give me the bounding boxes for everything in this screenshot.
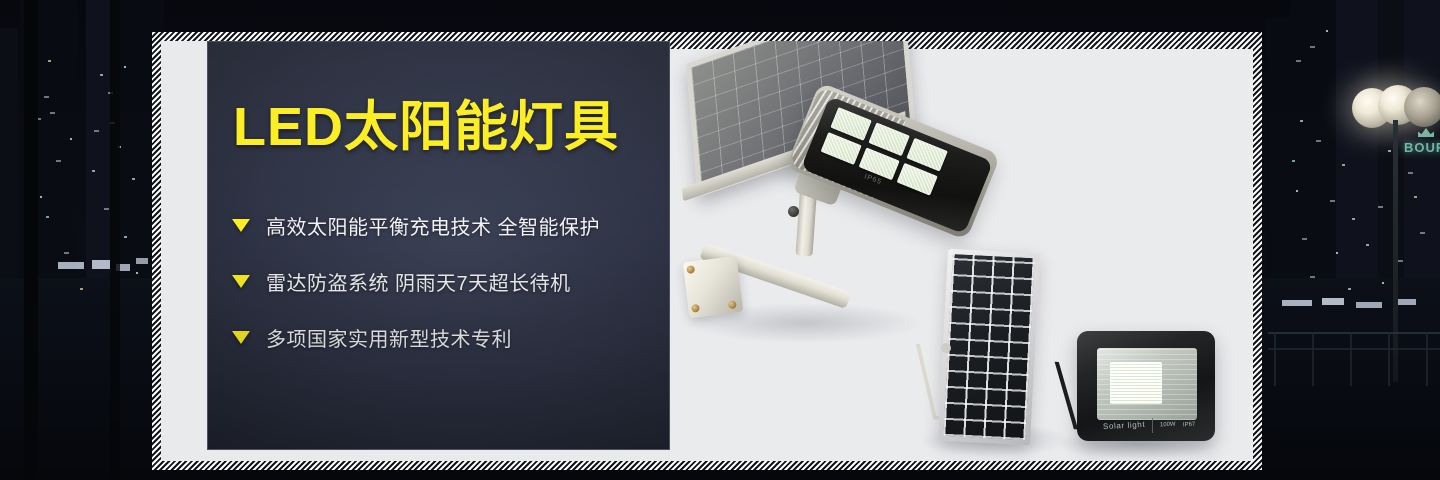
list-item: 雷达防盗系统 阴雨天7天超长待机 — [232, 253, 662, 309]
label-divider — [1152, 418, 1153, 433]
lamp-globe — [1404, 87, 1440, 127]
solar-panel-hinge — [941, 343, 951, 353]
page-title: LED太阳能灯具 — [233, 100, 619, 154]
flood-light-reflector — [1097, 348, 1197, 420]
flood-light-label-row: Solar light 100W IP67 — [1103, 418, 1209, 433]
feature-text: 多项国家实用新型技术专利 — [266, 323, 512, 352]
wall-mount-bracket — [683, 256, 743, 318]
led-module-grid — [821, 107, 948, 196]
solar-flood-light-image: Solar light 100W IP67 — [1065, 331, 1215, 446]
waterfront-railing — [1268, 332, 1440, 392]
promo-banner: BOUR LED太阳能灯具 高效太阳能平衡充电技术 全智能保护 — [0, 0, 1440, 480]
feature-text: 高效太阳能平衡充电技术 全智能保护 — [266, 211, 600, 240]
feature-text: 雷达防盗系统 阴雨天7天超长待机 — [266, 267, 571, 296]
solar-panel-cells — [943, 254, 1034, 440]
window-mullion — [110, 0, 120, 480]
standalone-solar-panel-image — [925, 251, 1035, 446]
radar-sensor-icon — [788, 206, 799, 217]
headline-panel: LED太阳能灯具 高效太阳能平衡充电技术 全智能保护 雷达防盗系统 阴雨天7天超… — [207, 41, 670, 450]
flood-light-led-emitter — [1110, 362, 1162, 404]
list-item: 高效太阳能平衡充电技术 全智能保护 — [232, 197, 662, 253]
triangle-down-icon — [232, 275, 250, 288]
flood-light-ip-rating: IP67 — [1183, 421, 1196, 430]
bracket-bolt — [686, 265, 695, 274]
flood-light-label: Solar light — [1103, 420, 1146, 431]
list-item: 多项国家实用新型技术专利 — [232, 309, 662, 365]
flood-light-wattage: 100W — [1160, 421, 1176, 430]
triangle-down-icon — [232, 331, 250, 344]
bracket-bolt — [728, 300, 737, 309]
flood-light-body: Solar light 100W IP67 — [1077, 331, 1215, 441]
solar-panel-frame — [938, 249, 1040, 446]
triangle-down-icon — [232, 219, 250, 232]
product-showcase: IP65 Solar light 100W IP — [670, 41, 1253, 461]
feature-list: 高效太阳能平衡充电技术 全智能保护 雷达防盗系统 阴雨天7天超长待机 多项国家实… — [232, 197, 662, 365]
bracket-bolt — [691, 304, 700, 313]
window-mullion — [24, 0, 38, 480]
